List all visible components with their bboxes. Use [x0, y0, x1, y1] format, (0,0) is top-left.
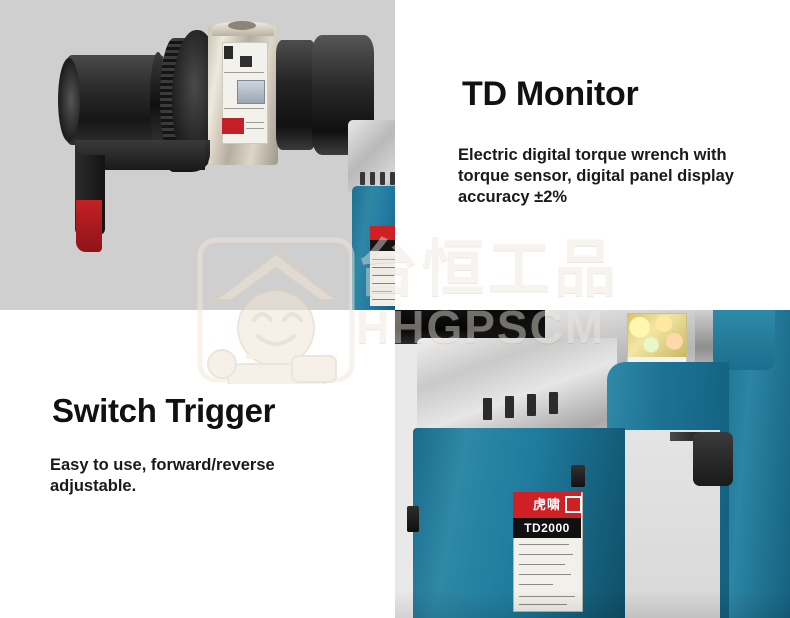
housing-notch — [407, 506, 419, 532]
brand-band-red — [370, 226, 395, 240]
td-monitor-title: TD Monitor — [462, 75, 638, 114]
sensor-label-mark — [224, 46, 233, 59]
sensor-label-line — [224, 108, 264, 109]
vent-slot — [527, 394, 536, 416]
td-monitor-description: Electric digital torque wrench with torq… — [458, 145, 758, 208]
photo-torque-wrench — [0, 0, 395, 310]
sensor-brand-band — [222, 118, 244, 134]
sensor-display-window — [237, 80, 265, 104]
vent-slot — [549, 392, 558, 414]
hologram-sticker — [627, 313, 687, 359]
brand-logo-square — [565, 496, 582, 513]
switch-trigger-description: Easy to use, forward/reverse adjustable. — [50, 455, 340, 497]
model-band-black — [370, 240, 395, 251]
bottom-shadow — [395, 590, 790, 618]
vent-slot — [505, 396, 514, 418]
panel-switch-trigger: Switch Trigger Easy to use, forward/reve… — [0, 310, 395, 618]
socket-opening — [58, 58, 80, 142]
motor-housing-front — [276, 40, 316, 150]
product-feature-collage: TD Monitor Electric digital torque wrenc… — [0, 0, 790, 618]
sensor-label-line — [246, 122, 264, 123]
vent-slot — [370, 172, 375, 185]
panel-td-monitor: TD Monitor Electric digital torque wrenc… — [395, 0, 790, 310]
model-number-text: TD2000 — [513, 519, 581, 537]
tool-body-tab — [713, 310, 775, 370]
housing-notch — [571, 465, 585, 487]
sensor-label-line — [224, 72, 264, 73]
sensor-label-line — [246, 128, 264, 129]
vent-slot — [380, 172, 385, 185]
reaction-arm-red-tip — [76, 200, 102, 252]
switch-trigger-title: Switch Trigger — [52, 392, 275, 430]
sensor-label-square — [240, 56, 252, 67]
vent-slot — [483, 398, 492, 420]
switch-trigger-button[interactable] — [693, 432, 733, 486]
photo-switch-trigger-closeup: 虎啸 TD2000 — [395, 310, 790, 618]
sensor-housing-port — [228, 21, 256, 30]
spec-label — [370, 251, 395, 306]
vent-slot — [360, 172, 365, 185]
